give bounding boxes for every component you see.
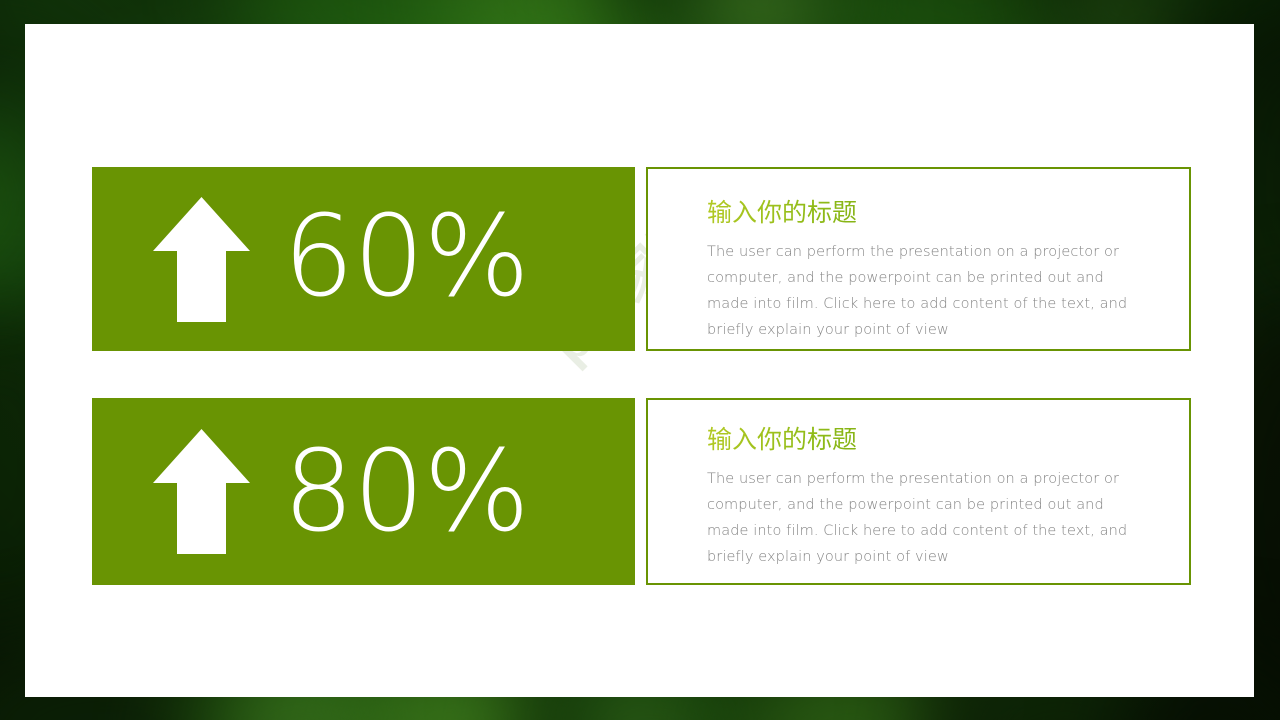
up-arrow-icon xyxy=(153,197,250,322)
info-card-title: 输入你的标题 xyxy=(707,426,1143,454)
stat-value: 60% xyxy=(283,201,529,313)
info-card-body: The user can perform the presentation on… xyxy=(707,466,1143,570)
stat-panel[interactable]: 80% xyxy=(92,398,635,585)
stat-value: 80% xyxy=(283,436,529,548)
info-card-title: 输入你的标题 xyxy=(707,199,1143,227)
stat-row: 80% 输入你的标题 The user can perform the pres… xyxy=(92,398,1191,585)
stat-panel[interactable]: 60% xyxy=(92,167,635,351)
info-card-body: The user can perform the presentation on… xyxy=(707,239,1143,343)
info-card[interactable]: 输入你的标题 The user can perform the presenta… xyxy=(646,167,1191,351)
slide-canvas: ppt家园 60% 输入你的标题 The user can perform th… xyxy=(25,24,1254,697)
info-card[interactable]: 输入你的标题 The user can perform the presenta… xyxy=(646,398,1191,585)
up-arrow-icon xyxy=(153,429,250,554)
stat-row: 60% 输入你的标题 The user can perform the pres… xyxy=(92,167,1191,351)
